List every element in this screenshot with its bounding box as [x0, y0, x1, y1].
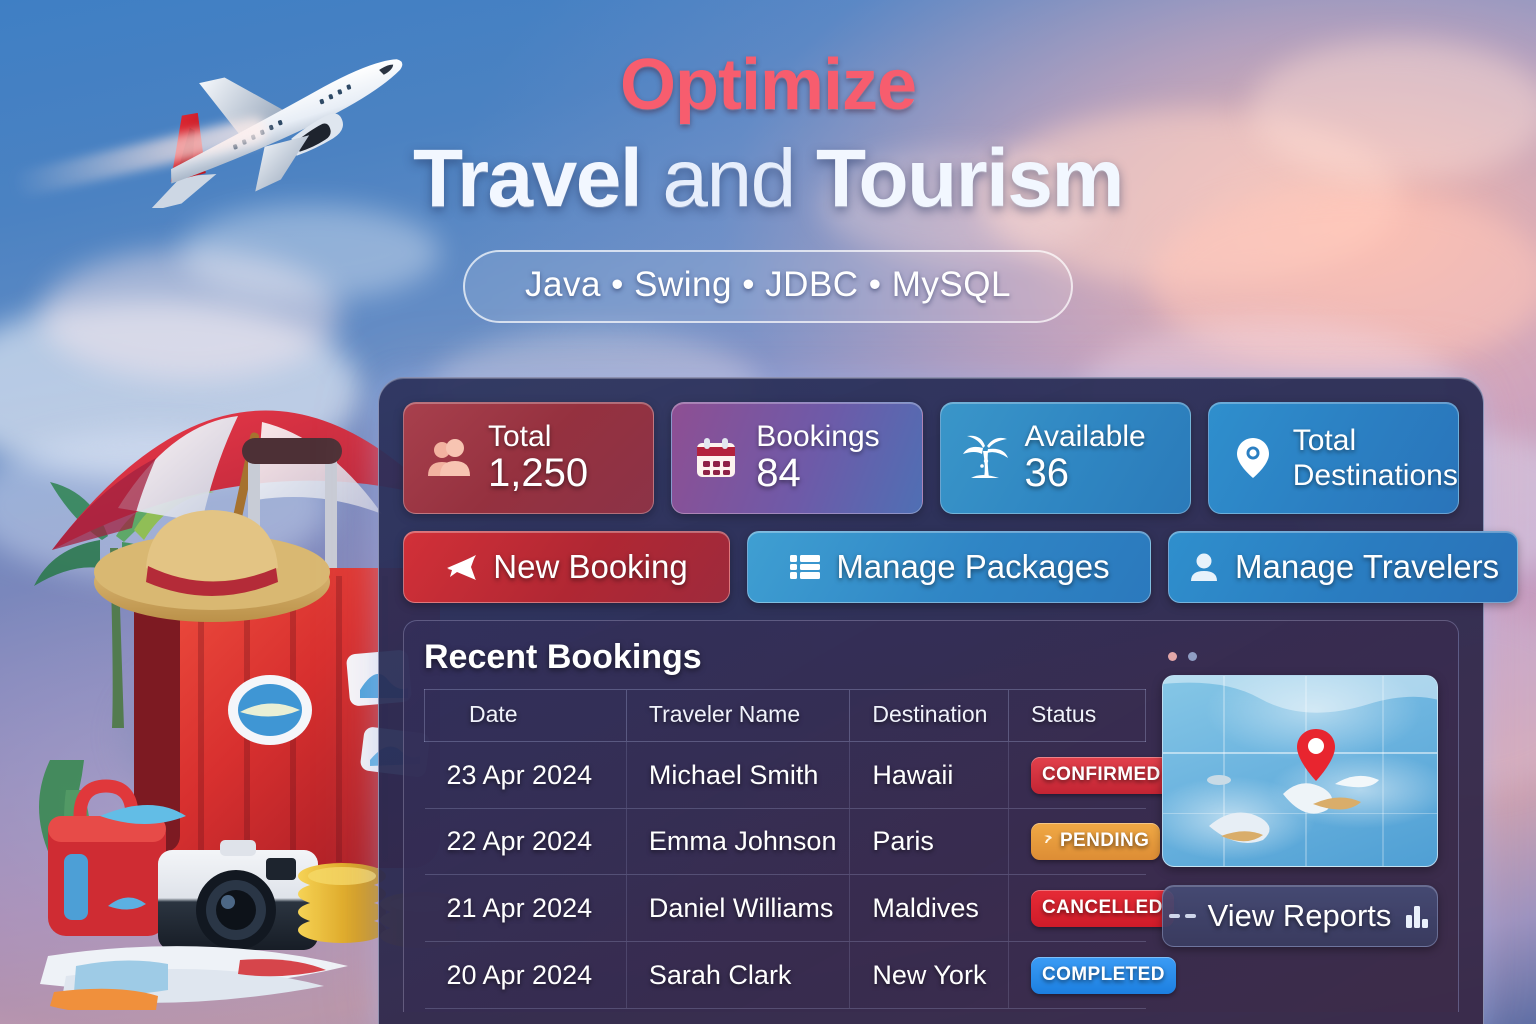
tech-stack-pill: Java • Swing • JDBC • MySQL	[463, 250, 1073, 323]
bar-chart-icon	[1403, 902, 1431, 930]
new-booking-button[interactable]: New Booking	[403, 531, 730, 603]
airplane-icon	[445, 550, 479, 584]
bookings-table-area: Recent Bookings Date Traveler Name Desti…	[424, 638, 1146, 1012]
destination-map[interactable]	[1162, 675, 1438, 867]
button-label: Manage Packages	[836, 548, 1109, 586]
status-badge: CONFIRMED	[1031, 757, 1172, 794]
cell-traveler: Daniel Williams	[626, 875, 850, 942]
cell-destination: New York	[850, 942, 1009, 1009]
table-row[interactable]: 21 Apr 2024 Daniel Williams Maldives CAN…	[425, 875, 1146, 942]
person-icon	[1187, 550, 1221, 584]
cell-date: 22 Apr 2024	[425, 809, 627, 875]
cell-traveler: Sarah Clark	[626, 942, 850, 1009]
panel-dots	[1168, 652, 1434, 661]
page-title-primary: Optimize	[0, 44, 1536, 126]
view-reports-button[interactable]: View Reports	[1162, 885, 1438, 947]
section-title: Recent Bookings	[424, 638, 702, 677]
camera	[158, 840, 318, 950]
title-travel: Travel	[413, 133, 641, 224]
action-buttons-row: New Booking Manage Packages Ma	[403, 531, 1459, 603]
palm-tree-icon	[959, 432, 1011, 484]
users-icon	[422, 432, 474, 484]
dot-indicator	[1168, 652, 1177, 661]
cell-traveler: Emma Johnson	[626, 809, 850, 875]
status-text: PENDING	[1060, 830, 1149, 852]
button-label: New Booking	[493, 548, 687, 586]
stat-value: 36	[1025, 453, 1146, 494]
status-badge: CANCELLED	[1031, 890, 1174, 927]
stat-card-total-travelers[interactable]: Total 1,250	[403, 402, 654, 514]
manage-travelers-button[interactable]: Manage Travelers	[1168, 531, 1518, 603]
table-row[interactable]: 20 Apr 2024 Sarah Clark New York COMPLET…	[425, 942, 1146, 1009]
poster-canvas: Optimize Travel and Tourism Java • Swing…	[0, 0, 1536, 1024]
stat-card-bookings[interactable]: Bookings 84	[671, 402, 922, 514]
clock-icon	[1042, 834, 1055, 849]
column-header-date[interactable]: Date	[425, 690, 627, 742]
calendar-icon	[690, 432, 742, 484]
column-header-traveler[interactable]: Traveler Name	[626, 690, 850, 742]
page-title-secondary: Travel and Tourism	[0, 132, 1536, 226]
cell-destination: Maldives	[850, 875, 1009, 942]
status-badge: COMPLETED	[1031, 957, 1176, 994]
table-row[interactable]: 22 Apr 2024 Emma Johnson Paris PENDING	[425, 809, 1146, 875]
travel-documents	[40, 946, 348, 1010]
stat-label: Total	[488, 422, 588, 453]
dashes-icon	[1169, 914, 1196, 918]
table-header-row: Date Traveler Name Destination Status	[425, 690, 1146, 742]
stat-card-available-packages[interactable]: Available 36	[940, 402, 1191, 514]
title-tourism: Tourism	[816, 133, 1123, 224]
title-and: and	[662, 133, 794, 224]
recent-bookings-table: Date Traveler Name Destination Status 23…	[424, 689, 1146, 1009]
button-label: Manage Travelers	[1235, 548, 1499, 586]
manage-packages-button[interactable]: Manage Packages	[747, 531, 1151, 603]
button-label: View Reports	[1208, 898, 1392, 934]
stat-value: 1,250	[488, 453, 588, 494]
map-pin-marker-icon	[1295, 727, 1337, 788]
stats-row: Total 1,250	[403, 402, 1459, 514]
cell-destination: Paris	[850, 809, 1009, 875]
cell-date: 23 Apr 2024	[425, 742, 627, 809]
stat-label: Bookings	[756, 422, 879, 453]
stat-label: Available	[1025, 422, 1146, 453]
stat-value: 84	[756, 453, 879, 494]
column-header-destination[interactable]: Destination	[850, 690, 1009, 742]
stat-card-total-destinations[interactable]: Total Destinations	[1208, 402, 1459, 514]
column-header-status[interactable]: Status	[1008, 690, 1145, 742]
map-and-reports-area: View Reports	[1162, 638, 1438, 1012]
list-icon	[788, 550, 822, 584]
map-pin-icon	[1227, 432, 1279, 484]
cell-traveler: Michael Smith	[626, 742, 850, 809]
dashboard-panel: Total 1,250	[378, 377, 1484, 1024]
cell-date: 21 Apr 2024	[425, 875, 627, 942]
status-badge: PENDING	[1031, 823, 1160, 860]
dot-indicator	[1188, 652, 1197, 661]
recent-bookings-panel: Recent Bookings Date Traveler Name Desti…	[403, 620, 1459, 1012]
table-row[interactable]: 23 Apr 2024 Michael Smith Hawaii CONFIRM…	[425, 742, 1146, 809]
section-header: Recent Bookings	[424, 638, 1146, 677]
cell-date: 20 Apr 2024	[425, 942, 627, 1009]
stat-label: Total	[1293, 423, 1458, 458]
stat-value: Destinations	[1293, 458, 1458, 493]
cell-destination: Hawaii	[850, 742, 1009, 809]
title-block: Optimize Travel and Tourism Java • Swing…	[0, 44, 1536, 323]
